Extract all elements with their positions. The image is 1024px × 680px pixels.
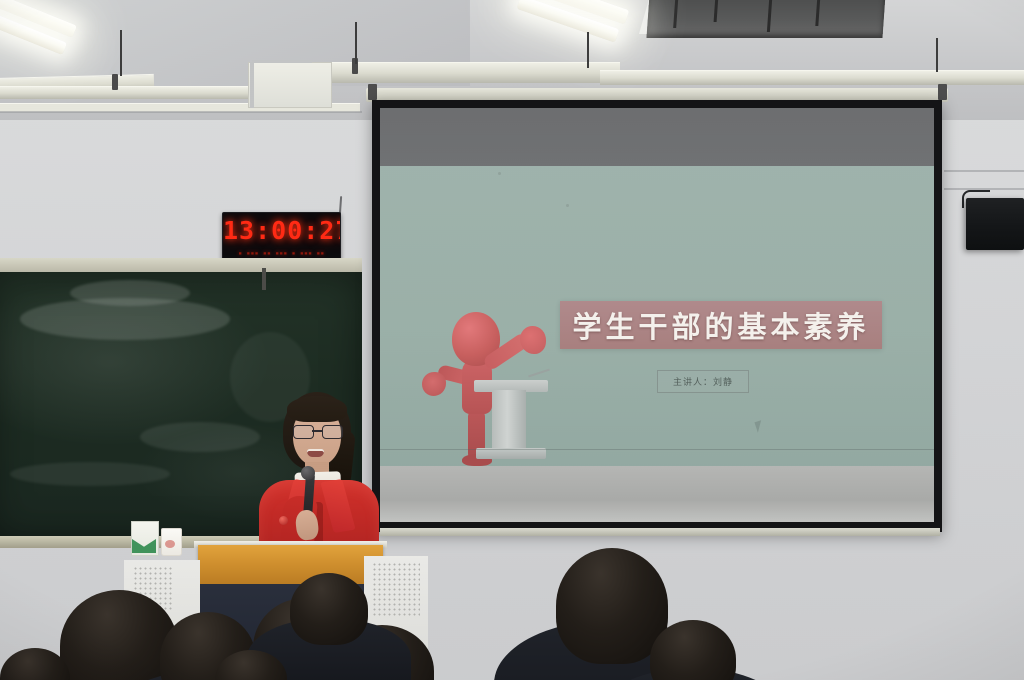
screen-bracket: [368, 84, 377, 100]
projection-top-band: [380, 108, 934, 166]
ceiling-hatch-icon: [646, 0, 885, 38]
wall-trim-line: [0, 111, 362, 113]
clock-secondary-display: ▪ ▪▪▪ ▪▪ ▪▪▪ ▪ ▪▪▪ ▪▪: [223, 250, 340, 257]
projection-screen: 学生干部的基本素养 主讲人：刘静: [372, 100, 942, 532]
wall-junction-box: [248, 62, 332, 108]
wall-speaker-icon: [966, 198, 1024, 250]
screen-weight-bar: [380, 528, 940, 536]
wall-conduit: [252, 60, 312, 63]
rail-hanger: [587, 32, 589, 68]
screen-seam: [380, 449, 934, 450]
slide-speck: [566, 204, 569, 207]
wall-trim-line: [944, 170, 1024, 172]
projection-surface: 学生干部的基本素养 主讲人：刘静: [380, 108, 934, 522]
curtain-rail: [600, 70, 1024, 85]
slide-subtitle-box: 主讲人：刘静: [657, 370, 749, 393]
eyeglasses-icon: [293, 425, 341, 437]
slide-subtitle: 主讲人：刘静: [673, 375, 733, 388]
presenter: [243, 392, 393, 564]
digital-wall-clock: 13:00:27 ▪ ▪▪▪ ▪▪ ▪▪▪ ▪ ▪▪▪ ▪▪: [222, 212, 341, 262]
clock-time-display: 13:00:27: [223, 216, 340, 245]
wall-conduit: [250, 62, 254, 108]
rail-end-cap: [112, 74, 118, 90]
screen-bracket: [938, 84, 947, 100]
projection-bottom-band: [380, 466, 934, 522]
rail-hanger: [355, 22, 357, 64]
slide-title-banner: 学生干部的基本素养: [560, 301, 882, 349]
mouse-pointer-icon: [754, 420, 764, 433]
blackboard-hook: [262, 268, 266, 290]
slide-speck: [498, 172, 501, 175]
classroom-photo: 13:00:27 ▪ ▪▪▪ ▪▪ ▪▪▪ ▪ ▪▪▪ ▪▪ 纸巾盒: [0, 0, 1024, 680]
audience-head-5: [290, 573, 368, 645]
rail-hanger: [120, 30, 122, 76]
podium-front-panel: [198, 545, 383, 587]
slide-title: 学生干部的基本素养: [572, 304, 869, 346]
rail-hanger: [936, 38, 938, 72]
speaker-grille: [372, 562, 420, 618]
slide-figure-speaker-icon: [420, 306, 560, 471]
curtain-rail: [320, 62, 620, 83]
paper-cup-marking: [165, 540, 175, 548]
slide-canvas: 学生干部的基本素养 主讲人：刘静: [380, 166, 934, 466]
